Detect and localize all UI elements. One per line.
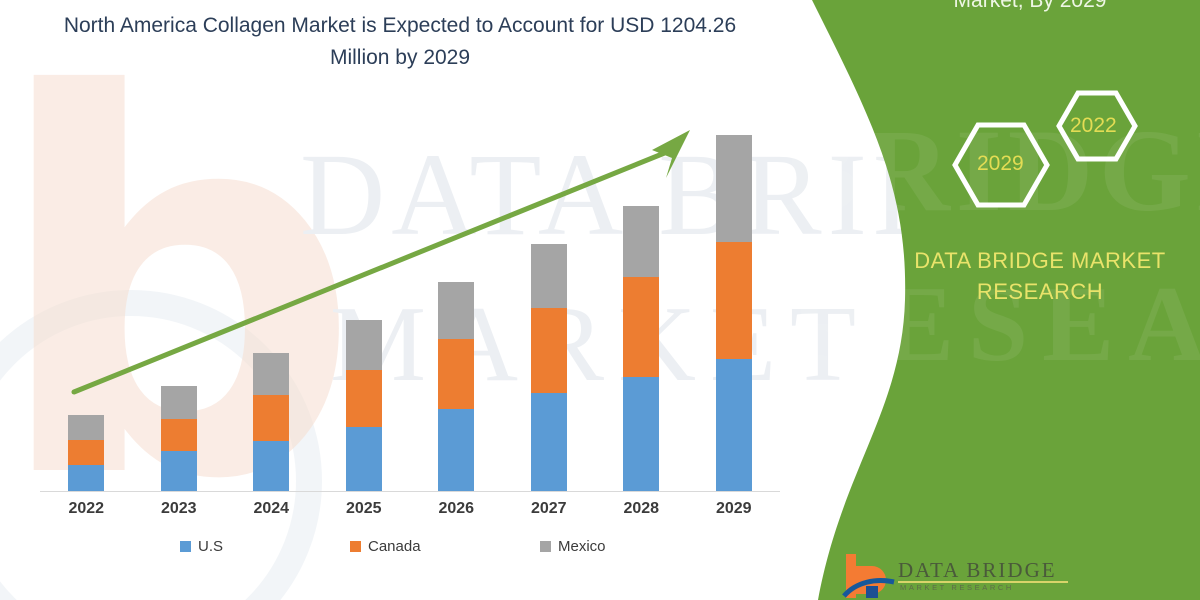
legend-swatch-icon [350, 541, 361, 552]
stacked-bar-chart [40, 120, 780, 492]
legend-item-canada[interactable]: Canada [350, 538, 421, 555]
data-bridge-logo: DATA BRIDGE MARKET RESEARCH [840, 552, 1100, 600]
legend-swatch-icon [180, 541, 191, 552]
trend-arrow-icon [40, 120, 780, 492]
infographic-canvas: b DATA BRIDGE MARKET RESEARCH North Amer… [0, 0, 1200, 600]
x-axis-label-2028: 2028 [605, 500, 677, 518]
hexagon-label-2029: 2029 [977, 152, 1024, 176]
legend-item-mexico[interactable]: Mexico [540, 538, 606, 555]
logo-name: DATA BRIDGE [898, 558, 1057, 583]
brand-line-2: RESEARCH [977, 279, 1103, 304]
hexagon-group: 2022 2029 [920, 85, 1180, 225]
logo-tagline: MARKET RESEARCH [900, 583, 1014, 592]
legend-swatch-icon [540, 541, 551, 552]
legend-item-us[interactable]: U.S [180, 538, 223, 555]
x-axis-label-2029: 2029 [698, 500, 770, 518]
legend-label: Mexico [558, 538, 606, 555]
logo-mark-icon [840, 552, 896, 598]
hexagon-label-2022: 2022 [1070, 114, 1117, 138]
x-axis-label-2023: 2023 [143, 500, 215, 518]
x-axis-label-2027: 2027 [513, 500, 585, 518]
x-axis-label-2025: 2025 [328, 500, 400, 518]
x-axis-label-2022: 2022 [50, 500, 122, 518]
x-axis-labels: 20222023202420252026202720282029 [40, 500, 780, 526]
chart-legend: U.SCanadaMexico [150, 538, 710, 562]
green-panel-content: Market, By 2029 2022 2029 DATA BRIDGE MA… [900, 0, 1200, 600]
page-title: North America Collagen Market is Expecte… [40, 10, 760, 74]
green-panel-heading: Market, By 2029 [860, 0, 1200, 16]
x-axis-label-2026: 2026 [420, 500, 492, 518]
brand-name: DATA BRIDGE MARKET RESEARCH [880, 245, 1200, 307]
legend-label: U.S [198, 538, 223, 555]
brand-line-1: DATA BRIDGE MARKET [914, 248, 1165, 273]
hexagon-shapes [920, 85, 1180, 225]
legend-label: Canada [368, 538, 421, 555]
x-axis-label-2024: 2024 [235, 500, 307, 518]
